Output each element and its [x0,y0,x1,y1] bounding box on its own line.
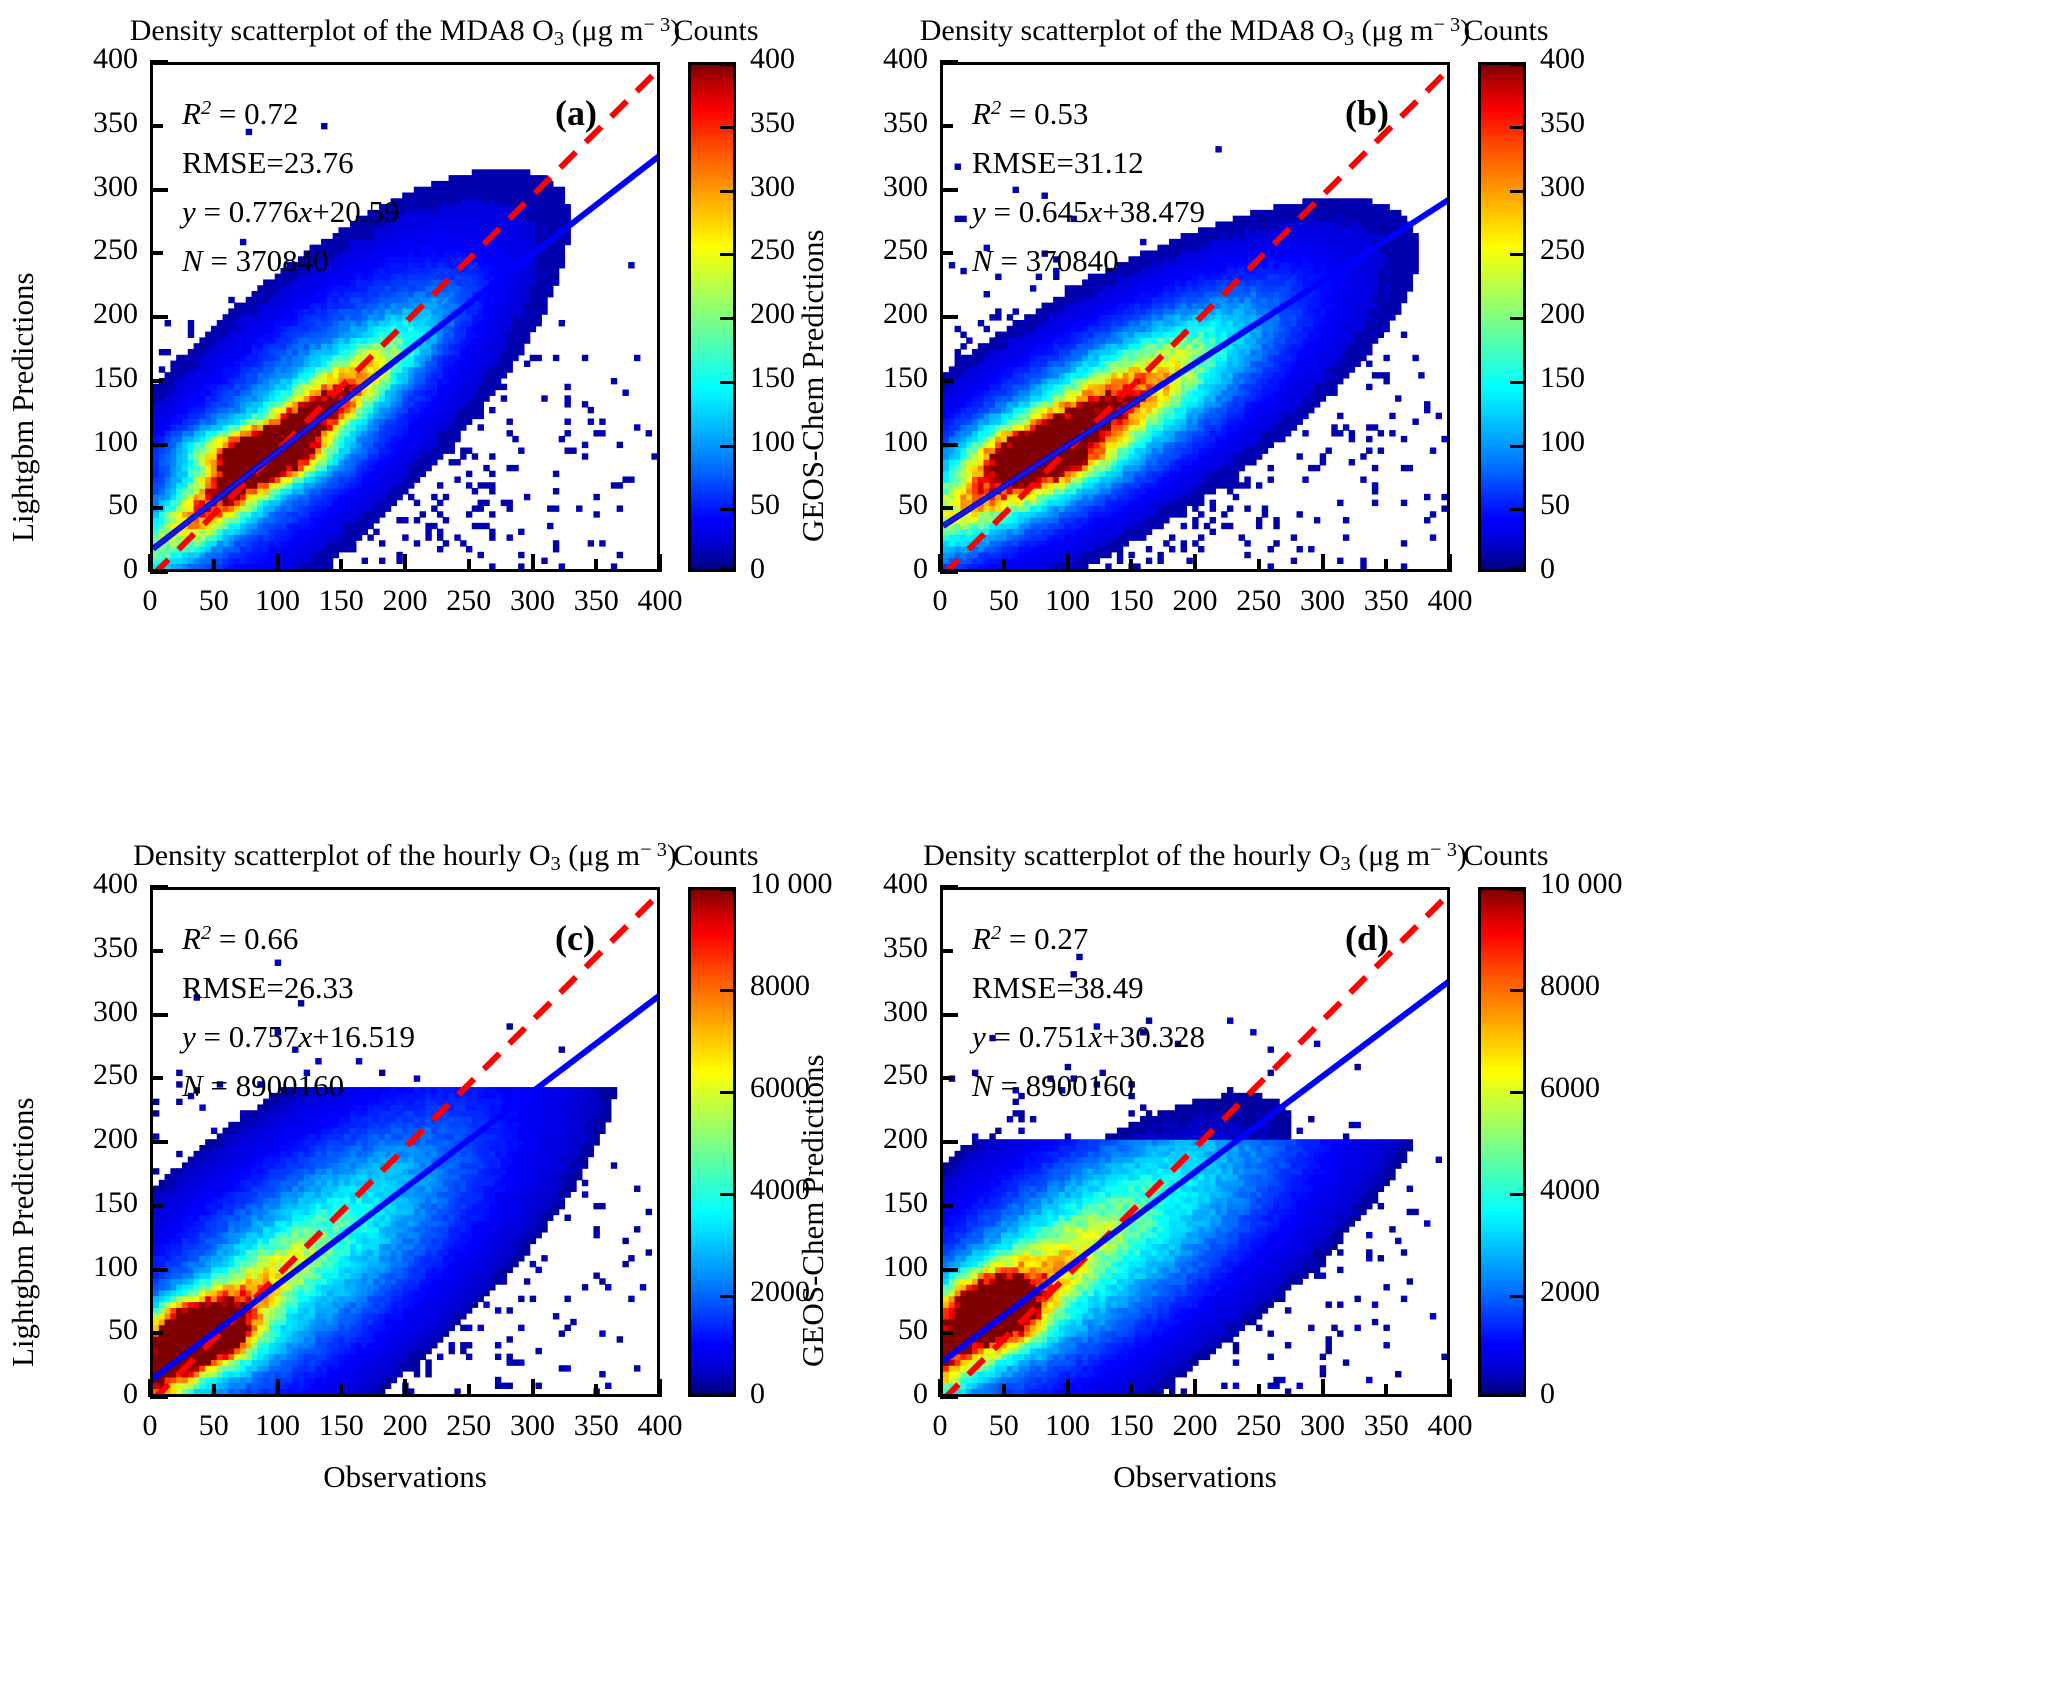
colorbar-tick-label-c-3: 4000 [750,1173,810,1207]
colorbar-c [688,887,736,1397]
colorbar-tick-b-1 [1510,126,1524,129]
colorbar-tick-label-c-2: 6000 [750,1071,810,1105]
colorbar-tick-d-0 [1510,888,1524,891]
colorbar-tick-b-8 [1510,568,1524,571]
colorbar-tick-b-6 [1510,445,1524,448]
y-tick-c-400 [150,885,168,889]
x-tick-b-250 [1257,559,1261,572]
y-tick-label-b-0: 0 [820,552,928,586]
y-tick-label-a-300: 300 [30,170,138,204]
colorbar-tick-b-0 [1510,63,1524,66]
colorbar-tick-label-c-0: 10 000 [750,867,833,901]
x-axis-label-c: Observations [150,1459,660,1495]
colorbar-tick-b-4 [1510,317,1524,320]
colorbar-tick-label-b-8: 0 [1540,552,1555,586]
colorbar-tick-a-5 [720,381,734,384]
colorbar-tick-c-1 [720,989,734,992]
x-tick-d-250 [1257,1384,1261,1397]
colorbar-tick-d-5 [1510,1393,1524,1396]
x-tick-label-d-400: 400 [1390,1409,1510,1443]
y-tick-b-50 [940,506,953,510]
x-tick-c-250 [467,1384,471,1397]
y-axis-label-a: Lightgbm Predictions [5,272,41,542]
x-tick-d-300 [1321,1379,1325,1397]
x-tick-d-400 [1448,1379,1452,1397]
y-tick-label-a-150: 150 [30,361,138,395]
colorbar-tick-label-b-2: 300 [1540,170,1585,204]
r2-stat-c: R2 = 0.66 [182,915,415,962]
y-tick-label-a-200: 200 [30,297,138,331]
x-tick-d-150 [1129,1384,1133,1397]
y-tick-c-100 [150,1268,168,1272]
y-tick-d-0 [940,1395,958,1399]
x-tick-c-150 [339,1384,343,1397]
x-tick-c-100 [276,1379,280,1397]
x-tick-b-50 [1002,559,1006,572]
x-tick-label-a-400: 400 [600,584,720,618]
rmse-stat-a: RMSE=23.76 [182,139,400,186]
colorbar-tick-label-a-5: 150 [750,361,795,395]
y-tick-b-250 [940,251,953,255]
y-tick-d-200 [940,1140,958,1144]
colorbar-tick-label-b-7: 50 [1540,488,1570,522]
rmse-stat-d: RMSE=38.49 [972,964,1205,1011]
figure-canvas: Density scatterplot of the MDA8 O3 (μg m… [0,0,2067,1685]
stats-block-c: R2 = 0.66RMSE=26.33y = 0.757x+16.519N = … [182,915,415,1111]
y-tick-c-200 [150,1140,168,1144]
colorbar-tick-d-3 [1510,1193,1524,1196]
y-tick-label-b-150: 150 [820,361,928,395]
n-stat-c: N = 8900160 [182,1062,415,1109]
colorbar-tick-a-6 [720,445,734,448]
colorbar-tick-label-b-1: 350 [1540,106,1585,140]
y-tick-b-0 [940,570,958,574]
rmse-stat-b: RMSE=31.12 [972,139,1205,186]
x-axis-label-d: Observations [940,1459,1450,1495]
x-tick-a-0 [148,554,152,572]
y-tick-d-250 [940,1076,953,1080]
y-tick-label-d-50: 50 [820,1313,928,1347]
x-tick-c-50 [212,1384,216,1397]
colorbar-tick-label-a-8: 0 [750,552,765,586]
x-tick-b-400 [1448,554,1452,572]
y-tick-label-d-350: 350 [820,931,928,965]
y-tick-a-0 [150,570,168,574]
y-tick-label-d-150: 150 [820,1186,928,1220]
colorbar-tick-label-a-3: 250 [750,233,795,267]
colorbar-tick-c-4 [720,1295,734,1298]
y-tick-a-300 [150,188,168,192]
y-tick-label-d-300: 300 [820,995,928,1029]
colorbar-tick-label-d-1: 8000 [1540,969,1600,1003]
colorbar-tick-d-2 [1510,1091,1524,1094]
y-axis-label-b: GEOS-Chem Predictions [795,229,831,542]
y-tick-a-400 [150,60,168,64]
y-tick-label-b-400: 400 [820,42,928,76]
colorbar-d [1478,887,1526,1397]
y-axis-label-c: Lightgbm Predictions [5,1097,41,1367]
y-tick-label-d-400: 400 [820,867,928,901]
r2-stat-d: R2 = 0.27 [972,915,1205,962]
y-tick-a-350 [150,124,163,128]
x-tick-b-0 [938,554,942,572]
y-tick-label-d-0: 0 [820,1377,928,1411]
y-tick-label-b-250: 250 [820,233,928,267]
x-tick-c-200 [403,1379,407,1397]
x-tick-b-350 [1384,559,1388,572]
colorbar-tick-b-2 [1510,190,1524,193]
y-tick-b-200 [940,315,958,319]
y-tick-label-b-300: 300 [820,170,928,204]
colorbar-tick-label-d-3: 4000 [1540,1173,1600,1207]
x-tick-label-c-400: 400 [600,1409,720,1443]
colorbar-tick-label-b-4: 200 [1540,297,1585,331]
colorbar-tick-label-c-4: 2000 [750,1275,810,1309]
r2-stat-a: R2 = 0.72 [182,90,400,137]
x-tick-a-100 [276,554,280,572]
y-tick-c-250 [150,1076,163,1080]
y-tick-d-50 [940,1331,953,1335]
stats-block-b: R2 = 0.53RMSE=31.12y = 0.645x+38.479N = … [972,90,1205,286]
y-tick-d-400 [940,885,958,889]
title-text-b: Density scatterplot of the MDA8 O3 (μg m… [920,14,1471,47]
y-tick-label-a-250: 250 [30,233,138,267]
x-tick-c-300 [531,1379,535,1397]
y-tick-label-c-100: 100 [30,1250,138,1284]
colorbar-tick-label-a-0: 400 [750,42,795,76]
y-tick-c-350 [150,949,163,953]
colorbar-tick-d-1 [1510,989,1524,992]
y-tick-b-100 [940,443,958,447]
colorbar-tick-label-a-7: 50 [750,488,780,522]
n-stat-d: N = 8900160 [972,1062,1205,1109]
y-tick-label-d-250: 250 [820,1058,928,1092]
y-tick-d-100 [940,1268,958,1272]
colorbar-tick-b-5 [1510,381,1524,384]
panel-label-b: (b) [1345,92,1389,134]
y-tick-label-a-0: 0 [30,552,138,586]
x-tick-a-400 [658,554,662,572]
colorbar-tick-label-b-0: 400 [1540,42,1585,76]
equation-stat-c: y = 0.757x+16.519 [182,1013,415,1060]
colorbar-tick-a-2 [720,190,734,193]
x-tick-label-b-400: 400 [1390,584,1510,618]
colorbar-tick-label-d-4: 2000 [1540,1275,1600,1309]
y-tick-label-b-100: 100 [820,425,928,459]
colorbar-tick-label-c-1: 8000 [750,969,810,1003]
x-tick-c-400 [658,1379,662,1397]
y-tick-label-c-300: 300 [30,995,138,1029]
colorbar-tick-label-a-2: 300 [750,170,795,204]
y-tick-c-50 [150,1331,163,1335]
y-tick-b-300 [940,188,958,192]
x-tick-d-50 [1002,1384,1006,1397]
colorbar-tick-b-3 [1510,253,1524,256]
y-tick-label-a-400: 400 [30,42,138,76]
y-tick-label-a-100: 100 [30,425,138,459]
y-tick-label-c-0: 0 [30,1377,138,1411]
y-tick-d-300 [940,1013,958,1017]
y-tick-label-a-350: 350 [30,106,138,140]
y-tick-label-c-400: 400 [30,867,138,901]
colorbar-tick-c-2 [720,1091,734,1094]
x-tick-b-300 [1321,554,1325,572]
colorbar-tick-a-3 [720,253,734,256]
y-tick-c-150 [150,1204,163,1208]
x-tick-a-350 [594,559,598,572]
y-tick-label-b-350: 350 [820,106,928,140]
colorbar-tick-label-b-5: 150 [1540,361,1585,395]
panel-label-a: (a) [555,92,597,134]
rmse-stat-c: RMSE=26.33 [182,964,415,1011]
panel-label-c: (c) [555,917,595,959]
y-tick-c-300 [150,1013,168,1017]
n-stat-a: N = 370840 [182,237,400,284]
y-tick-label-a-50: 50 [30,488,138,522]
colorbar-tick-label-b-6: 100 [1540,425,1585,459]
colorbar-tick-a-7 [720,508,734,511]
y-tick-label-c-200: 200 [30,1122,138,1156]
colorbar-tick-label-d-5: 0 [1540,1377,1555,1411]
y-tick-d-350 [940,949,953,953]
x-tick-c-350 [594,1384,598,1397]
colorbar-tick-c-5 [720,1393,734,1396]
title-text-a: Density scatterplot of the MDA8 O3 (μg m… [130,14,681,47]
x-tick-b-200 [1193,554,1197,572]
y-tick-label-c-250: 250 [30,1058,138,1092]
colorbar-tick-c-3 [720,1193,734,1196]
colorbar-tick-label-b-3: 250 [1540,233,1585,267]
y-tick-b-150 [940,379,953,383]
colorbar-tick-label-a-1: 350 [750,106,795,140]
colorbar-tick-label-a-6: 100 [750,425,795,459]
x-tick-a-250 [467,559,471,572]
colorbar-tick-d-4 [1510,1295,1524,1298]
y-tick-d-150 [940,1204,953,1208]
y-tick-a-150 [150,379,163,383]
colorbar-tick-label-d-0: 10 000 [1540,867,1623,901]
x-tick-a-50 [212,559,216,572]
y-tick-b-400 [940,60,958,64]
x-tick-d-100 [1066,1379,1070,1397]
y-tick-label-b-50: 50 [820,488,928,522]
equation-stat-d: y = 0.751x+30.328 [972,1013,1205,1060]
r2-stat-b: R2 = 0.53 [972,90,1205,137]
x-tick-a-150 [339,559,343,572]
colorbar-tick-a-1 [720,126,734,129]
x-tick-d-350 [1384,1384,1388,1397]
y-tick-c-0 [150,1395,168,1399]
colorbar-tick-a-4 [720,317,734,320]
equation-stat-a: y = 0.776x+20.59 [182,188,400,235]
y-tick-label-b-200: 200 [820,297,928,331]
colorbar-tick-label-c-5: 0 [750,1377,765,1411]
y-tick-a-50 [150,506,163,510]
x-tick-a-200 [403,554,407,572]
title-text-d: Density scatterplot of the hourly O3 (μg… [923,839,1467,872]
y-tick-label-c-350: 350 [30,931,138,965]
y-tick-label-c-150: 150 [30,1186,138,1220]
colorbar-tick-a-0 [720,63,734,66]
y-tick-label-d-200: 200 [820,1122,928,1156]
colorbar-tick-label-a-4: 200 [750,297,795,331]
y-tick-label-d-100: 100 [820,1250,928,1284]
y-tick-a-250 [150,251,163,255]
y-tick-a-200 [150,315,168,319]
x-tick-d-0 [938,1379,942,1397]
panel-label-d: (d) [1345,917,1389,959]
x-tick-b-150 [1129,559,1133,572]
equation-stat-b: y = 0.645x+38.479 [972,188,1205,235]
x-tick-d-200 [1193,1379,1197,1397]
x-tick-b-100 [1066,554,1070,572]
x-tick-a-300 [531,554,535,572]
y-tick-a-100 [150,443,168,447]
stats-block-d: R2 = 0.27RMSE=38.49y = 0.751x+30.328N = … [972,915,1205,1111]
y-tick-label-c-50: 50 [30,1313,138,1347]
colorbar-tick-b-7 [1510,508,1524,511]
n-stat-b: N = 370840 [972,237,1205,284]
title-text-c: Density scatterplot of the hourly O3 (μg… [133,839,677,872]
x-tick-c-0 [148,1379,152,1397]
colorbar-tick-a-8 [720,568,734,571]
y-tick-b-350 [940,124,953,128]
colorbar-tick-label-d-2: 6000 [1540,1071,1600,1105]
colorbar-tick-c-0 [720,888,734,891]
stats-block-a: R2 = 0.72RMSE=23.76y = 0.776x+20.59N = 3… [182,90,400,286]
